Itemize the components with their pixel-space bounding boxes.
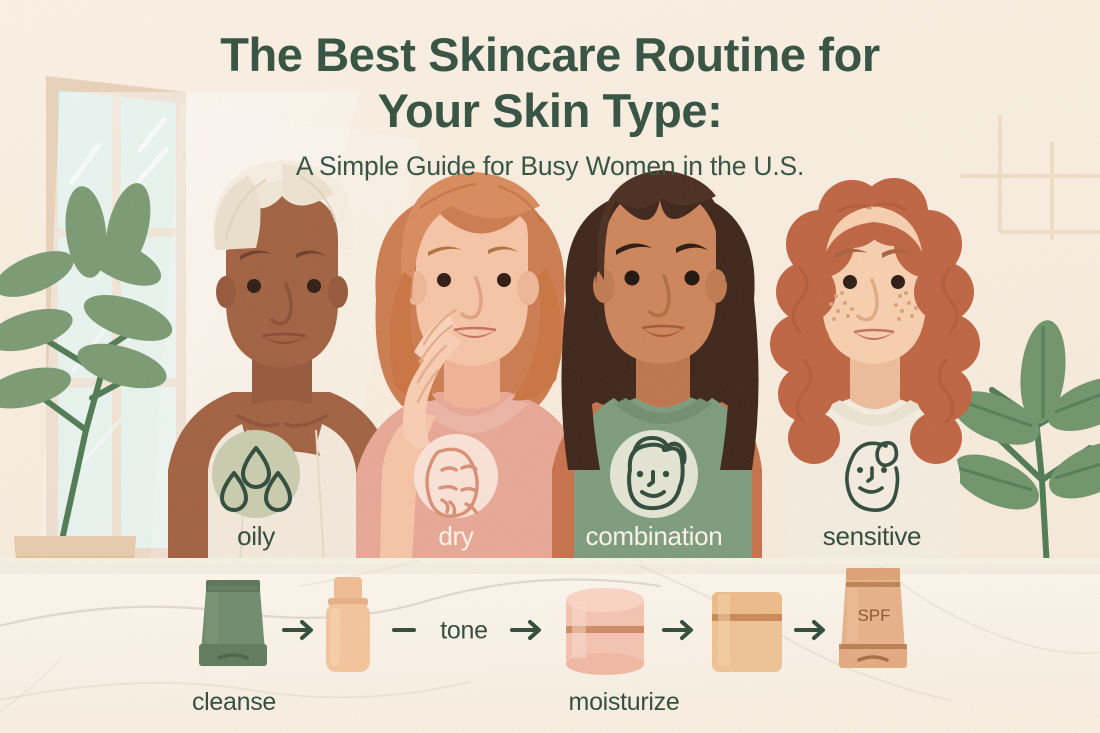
header: The Best Skincare Routine for Your Skin … bbox=[0, 27, 1100, 183]
routine-step-label-moisturize: moisturize bbox=[569, 688, 680, 717]
skin-type-label-dry: dry bbox=[438, 521, 473, 552]
skin-type-label-combination: combination bbox=[586, 521, 723, 552]
page-subtitle: A Simple Guide for Busy Women in the U.S… bbox=[0, 149, 1100, 183]
badge-dry bbox=[414, 434, 498, 518]
badge-sensitive bbox=[830, 430, 914, 514]
skin-type-label-sensitive: sensitive bbox=[823, 521, 921, 552]
skin-type-label-oily: oily bbox=[237, 521, 275, 552]
page-title-line-1: The Best Skincare Routine for bbox=[0, 27, 1100, 83]
page-title-line-2: Your Skin Type: bbox=[0, 83, 1100, 139]
routine-step-label-cleanse: cleanse bbox=[192, 688, 276, 717]
routine-step-label-tone: tone bbox=[440, 617, 487, 646]
skincare-infographic-poster: The Best Skincare Routine for Your Skin … bbox=[0, 0, 1100, 733]
badge-oily bbox=[212, 430, 300, 518]
spf-badge-text: SPF bbox=[857, 606, 890, 626]
badge-combination bbox=[610, 430, 698, 518]
